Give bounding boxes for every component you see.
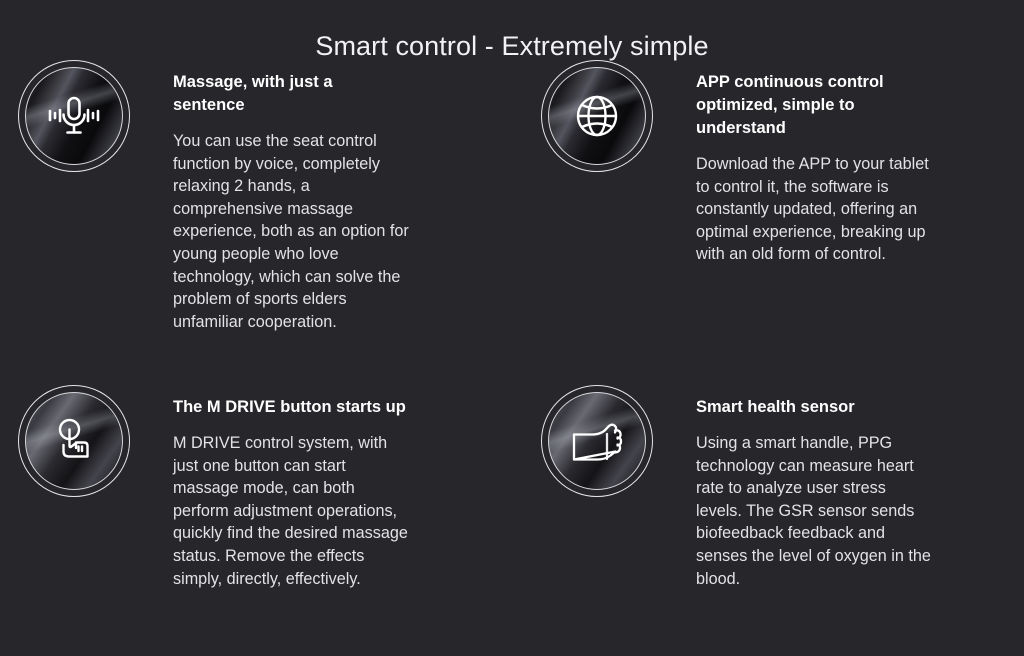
feature-text-block: The M DRIVE button starts up M DRIVE con… xyxy=(173,385,413,590)
feature-body: You can use the seat control function by… xyxy=(173,130,413,333)
feature-card-health-sensor: Smart health sensor Using a smart handle… xyxy=(541,385,1021,590)
smart-control-panel: Smart control - Extremely simple xyxy=(0,0,1024,656)
badge-glyph xyxy=(542,386,652,496)
feature-card-voice-massage: Massage, with just a sentence You can us… xyxy=(18,60,518,333)
globe-app-icon xyxy=(541,60,653,172)
feature-text-block: Massage, with just a sentence You can us… xyxy=(173,60,413,333)
feature-text-block: Smart health sensor Using a smart handle… xyxy=(696,385,936,590)
feature-title: APP continuous control optimized, simple… xyxy=(696,71,911,140)
feature-grid: Massage, with just a sentence You can us… xyxy=(0,60,1024,656)
badge-glyph xyxy=(19,61,129,171)
feature-title: Massage, with just a sentence xyxy=(173,71,408,117)
feature-body: Download the APP to your tablet to contr… xyxy=(696,153,936,266)
feature-body: Using a smart handle, PPG technology can… xyxy=(696,432,936,590)
feature-title: The M DRIVE button starts up xyxy=(173,396,408,419)
feature-text-block: APP continuous control optimized, simple… xyxy=(696,60,936,266)
badge-glyph xyxy=(19,386,129,496)
hand-press-button-icon xyxy=(18,385,130,497)
feature-body: M DRIVE control system, with just one bu… xyxy=(173,432,413,590)
badge-glyph xyxy=(542,61,652,171)
hand-grip-sensor-icon xyxy=(541,385,653,497)
feature-title: Smart health sensor xyxy=(696,396,911,419)
feature-card-m-drive: The M DRIVE button starts up M DRIVE con… xyxy=(18,385,518,590)
microphone-voice-icon xyxy=(18,60,130,172)
feature-card-app-control: APP continuous control optimized, simple… xyxy=(541,60,1021,266)
page-title: Smart control - Extremely simple xyxy=(0,29,1024,63)
